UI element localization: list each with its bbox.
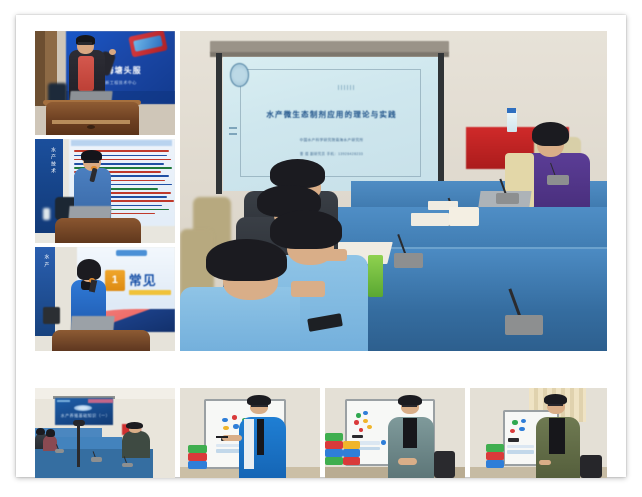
stacked-stool [325,457,343,465]
side-banner-text: 水产 [39,254,50,270]
podium-trim [52,120,130,123]
magnet [356,413,361,418]
slide-heading-underline [129,290,171,295]
microphone [505,287,543,335]
whiteboard-strip [507,450,534,454]
slide-organization-text: 中国水产科学研究院南海水产研究所 [231,138,432,143]
tile-speaker-with-microphone-text-slide: 水产技术 [35,139,175,243]
side-banner-text: 水产技术 [42,147,56,175]
microphone-base [496,193,519,204]
slide-presenter-contact-text: 曹 煜 副研究员 手机：13926428233 [231,151,432,156]
slide-title-text: 水产微生态制剂应用的理论与实践 [231,109,432,120]
microphone-base [394,253,424,268]
wood-panel-dark [35,31,45,106]
bottle-cap [507,108,516,113]
whiteboard-marker [352,435,363,439]
stacked-stool [188,445,206,453]
stacked-stool [188,461,206,469]
slide-inner-border [240,69,421,177]
stacked-stool [325,449,343,457]
screen-frame-right [438,53,444,194]
stacked-stool [486,452,504,460]
magnet [222,418,228,423]
trainer-glasses [251,405,268,407]
slide-subtitle-text: 最新工程技术中心 [101,80,171,86]
tile-speaker-with-numbered-slide: 1 常见 水产 [35,247,175,351]
pointer-pen [216,436,227,439]
paper-document [411,213,449,226]
whiteboard-strip [507,445,534,449]
attendee-hair [46,429,54,436]
trainer-hand [539,460,551,465]
speaker-hair [77,259,101,280]
attendee-hair [270,210,343,248]
slide-number-badge: 1 [105,270,125,291]
trainer-inner-shirt [403,418,417,449]
equipment-box [43,307,60,324]
attendee-hand [321,249,347,262]
water-bottle [507,111,517,132]
slide-logo [116,250,147,256]
podium-emblem [87,125,95,129]
camera-tripod [77,424,80,467]
slide-logo [57,400,70,403]
slide-accent-band [88,399,113,404]
stacked-stool [325,441,343,449]
slide-tick-mark [229,127,238,129]
tile-main-conference-room-photo: 水产微生态制剂应用的理论与实践 中国水产科学研究院南海水产研究所 曹 煜 副研究… [180,31,607,351]
microphone-base [547,175,568,184]
tile-wide-conference-room-photo: 水产养殖基础知识（一） [35,388,175,478]
microphone-base [122,463,133,468]
stacked-stool [343,441,360,449]
screen-frame-left [216,53,222,194]
microphone-base [91,457,102,462]
attendee-hair [206,239,287,281]
trainer-inner-shirt [549,418,564,454]
attendee-hair [36,428,44,435]
water-bottle [43,208,50,220]
green-bottle [368,255,383,297]
attendee-torso [122,431,150,458]
stacked-stool [486,444,504,452]
stacked-stool [188,453,206,461]
slide-header-band [71,140,172,146]
photo-collage: 粤海塘头服 最新工程技术中心 [16,15,626,477]
magnet [512,420,517,425]
stacked-stool [343,449,360,457]
magnet [363,419,368,424]
laptop [68,206,111,220]
microphone [122,456,133,467]
slide-tick-mark [229,133,238,135]
presenter-hair [532,122,568,146]
attendee-hair [126,422,143,429]
magnet [232,415,238,420]
slide-dot-decoration [338,85,355,90]
trainer-jacket-stripe [244,419,254,469]
microphone [496,178,519,204]
microphone [91,451,102,462]
microphone [547,162,568,184]
chair [580,455,602,478]
tile-trainer-teal-jacket-whiteboard [325,388,465,478]
speaker-glasses [78,42,92,44]
microphone-base [55,449,65,453]
magnet [510,429,515,434]
trainer-inner-shirt [257,419,264,455]
tile-trainer-olive-jacket-whiteboard [470,388,607,478]
trainer-glasses [548,404,563,406]
podium [55,218,142,243]
stacked-stool [325,433,343,441]
podium [52,330,150,351]
magnet [519,427,524,432]
magnet [381,440,386,445]
speaker-hand [109,49,116,55]
microphone-base [505,315,543,335]
tissue-box [449,207,479,226]
microphone [394,233,424,268]
magnet [363,411,368,416]
speaker-glasses [84,160,99,163]
magnet [233,424,239,429]
trainer-hands [398,458,418,465]
laptop [71,316,116,331]
slide-heading-text: 常见 [129,270,175,289]
chair [434,451,455,478]
stacked-stool [486,460,504,468]
microphone [55,444,65,453]
podium [46,102,138,135]
whiteboard-marker [508,438,519,442]
trainer-glasses [402,405,417,407]
stacked-stool [343,457,360,465]
attendee-hand [291,281,325,297]
slide-text: 水产养殖基础知识（一） [60,413,110,419]
speaker-shirt [78,56,93,91]
attendee-hair [270,159,326,188]
tile-trainer-blue-track-jacket-whiteboard [180,388,320,478]
tile-speaker-at-podium-blue-slide: 粤海塘头服 最新工程技术中心 [35,31,175,135]
